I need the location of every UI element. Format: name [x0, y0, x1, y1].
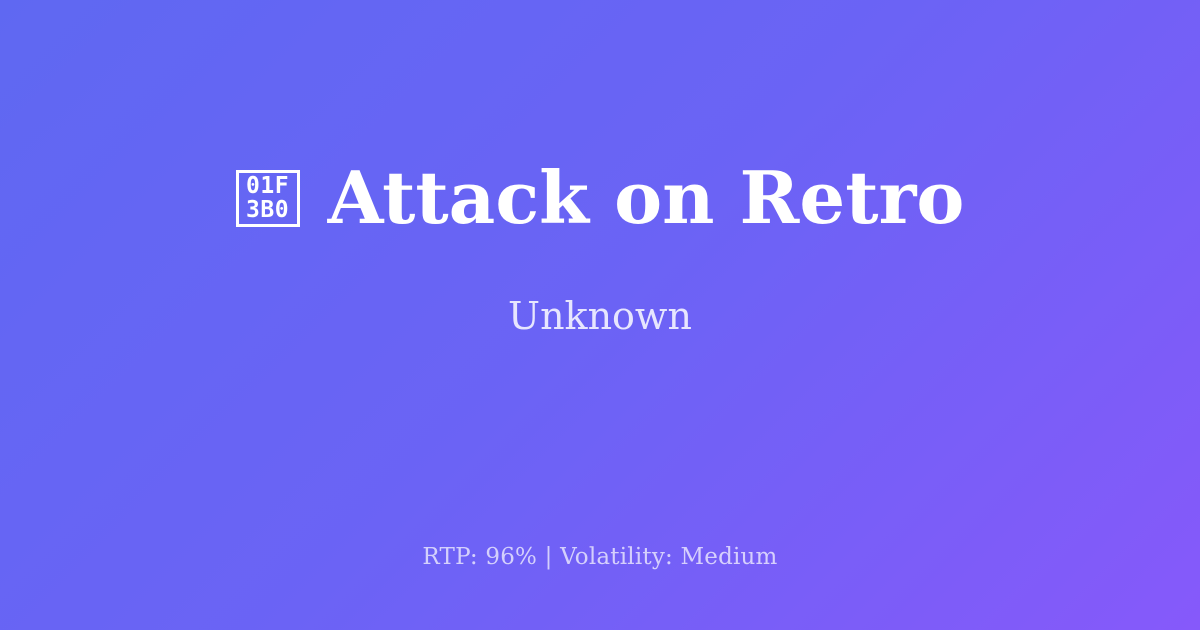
hero-block: 01F 3B0 Attack on Retro Unknown — [0, 0, 1200, 500]
og-share-card: 01F 3B0 Attack on Retro Unknown RTP: 96%… — [0, 0, 1200, 630]
provider-subtitle: Unknown — [508, 294, 692, 340]
tofu-codepoint-bottom: 3B0 — [246, 198, 289, 222]
page-title: Attack on Retro — [328, 161, 965, 236]
game-stats-line: RTP: 96% | Volatility: Medium — [422, 544, 777, 570]
slot-machine-emoji-icon: 01F 3B0 — [236, 170, 300, 227]
title-row: 01F 3B0 Attack on Retro — [236, 161, 965, 236]
meta-footer: RTP: 96% | Volatility: Medium — [0, 543, 1200, 572]
tofu-codepoint-top: 01F — [246, 174, 289, 198]
